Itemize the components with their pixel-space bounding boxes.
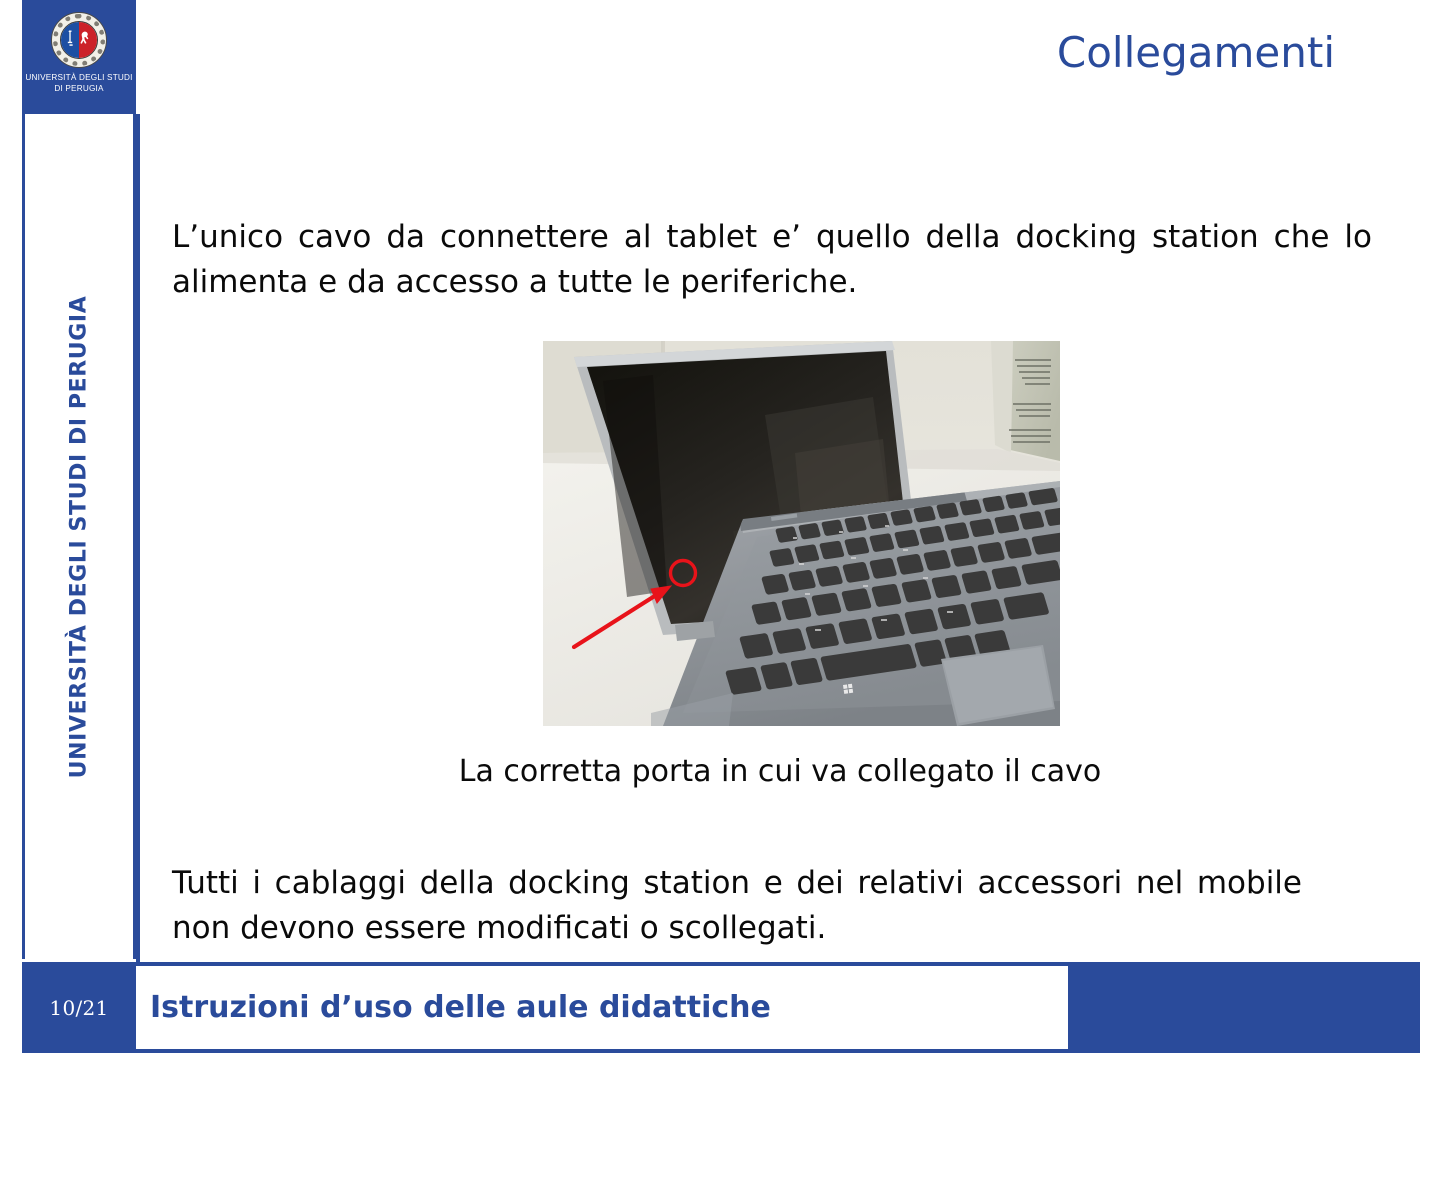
crest-figures-icon: [61, 22, 97, 58]
sidebar: UNIVERSITÀ DEGLI STUDI DI PERUGIA UNIVER…: [22, 0, 136, 1053]
body-paragraph-top: L’unico cavo da connettere al tablet e’ …: [172, 215, 1372, 305]
body-paragraph-bottom: Tutti i cablaggi della docking station e…: [172, 861, 1302, 951]
crest-shield: [60, 21, 98, 59]
sidebar-logo-caption-line1: UNIVERSITÀ DEGLI STUDI: [22, 72, 136, 83]
photo-caption: La corretta porta in cui va collegato il…: [140, 754, 1420, 789]
sidebar-logo-caption: UNIVERSITÀ DEGLI STUDI DI PERUGIA: [22, 72, 136, 94]
sidebar-logo-caption-line2: DI PERUGIA: [22, 83, 136, 94]
footer-title-box: Istruzioni d’uso delle aule didattiche: [136, 962, 1068, 1053]
slide-canvas: Collegamenti: [0, 0, 1439, 1200]
sidebar-vertical-label: UNIVERSITÀ DEGLI STUDI DI PERUGIA: [67, 295, 92, 778]
university-crest-icon: [51, 12, 107, 68]
footer-accent-block: [1068, 962, 1420, 1053]
slide-content: L’unico cavo da connettere al tablet e’ …: [140, 114, 1420, 962]
sidebar-vertical-panel: UNIVERSITÀ DEGLI STUDI DI PERUGIA: [22, 114, 136, 959]
page-number: 10/21: [49, 996, 108, 1020]
slide-footer: Istruzioni d’uso delle aule didattiche: [136, 962, 1420, 1053]
sidebar-logo-block: UNIVERSITÀ DEGLI STUDI DI PERUGIA: [22, 0, 136, 114]
photo-illustration: [543, 341, 1060, 726]
photo-tablet-docking-station: [543, 341, 1060, 726]
footer-title: Istruzioni d’uso delle aule didattiche: [150, 990, 771, 1025]
page-number-block: 10/21: [22, 962, 136, 1053]
slide-title: Collegamenti: [1057, 28, 1335, 77]
